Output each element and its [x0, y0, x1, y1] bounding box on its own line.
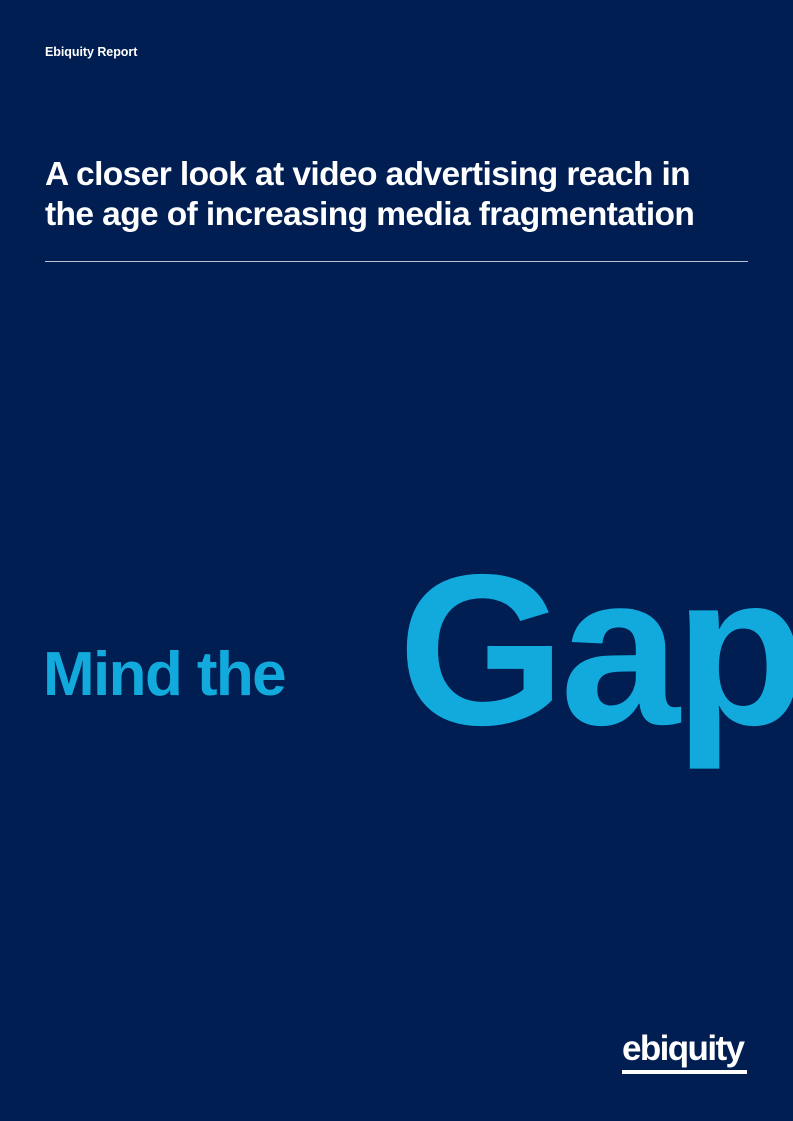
document-cover-page: Ebiquity Report A closer look at video a…	[0, 0, 793, 1121]
hero-display-text: Gap	[398, 535, 793, 765]
page-title-line-1: A closer look at video advertising reach…	[45, 156, 690, 193]
page-title-line-2: the age of increasing media fragmentatio…	[45, 196, 694, 233]
ebiquity-logo-underline-bar	[622, 1070, 747, 1074]
page-title: A closer look at video advertising reach…	[45, 155, 705, 235]
hero-lead-text: Mind the	[43, 641, 285, 709]
ebiquity-logo-wordmark: ebiquity	[622, 1030, 748, 1068]
cover-title-block: A closer look at video advertising reach…	[45, 155, 705, 235]
report-eyebrow-label: Ebiquity Report	[45, 44, 137, 60]
title-divider-rule	[45, 261, 748, 262]
ebiquity-logo: ebiquity	[622, 1030, 748, 1074]
